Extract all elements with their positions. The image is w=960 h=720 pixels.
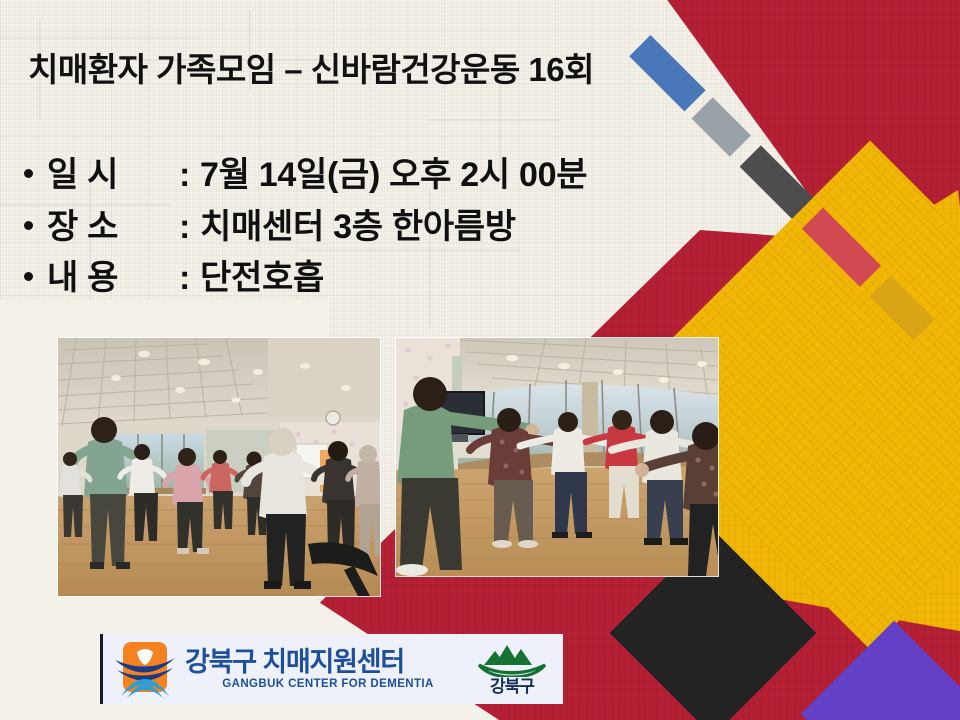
detail-separator-place: : — [179, 202, 190, 254]
logo-korean-name: 강북구 치매지원센터 — [185, 648, 471, 676]
detail-row-place: 장 소 : 치매센터 3층 한아름방 — [24, 202, 587, 254]
detail-label-content: 내 용 — [47, 253, 179, 305]
logo-text-block: 강북구 치매지원센터 GANGBUK CENTER FOR DEMENTIA — [185, 648, 471, 691]
detail-list: 일 시 : 7월 14일(금) 오후 2시 00분 장 소 : 치매센터 3층 … — [24, 150, 587, 305]
gangbuk-mountain-icon — [477, 643, 547, 677]
gangbuk-district-emblem: 강북구 — [471, 643, 553, 695]
detail-label-place: 장 소 — [47, 202, 179, 254]
detail-value-content: 단전호흡 — [200, 253, 324, 305]
slide-title: 치매환자 가족모임 – 신바람건강운동 16회 — [28, 52, 594, 89]
detail-value-place: 치매센터 3층 한아름방 — [200, 202, 516, 254]
detail-label-date: 일 시 — [47, 150, 179, 202]
detail-row-content: 내 용 : 단전호흡 — [24, 253, 587, 305]
bullet-dot-icon — [24, 272, 33, 281]
photo-group-exercise-right — [396, 338, 718, 576]
logo-english-name: GANGBUK CENTER FOR DEMENTIA — [185, 678, 471, 691]
detail-separator-date: : — [179, 150, 190, 202]
slide-canvas: 치매환자 가족모임 – 신바람건강운동 16회 일 시 : 7월 14일(금) … — [0, 0, 960, 720]
gangbuk-emblem-label: 강북구 — [490, 678, 534, 695]
detail-value-date: 7월 14일(금) 오후 2시 00분 — [200, 150, 587, 202]
dementia-center-logo-icon — [115, 640, 175, 698]
detail-row-date: 일 시 : 7월 14일(금) 오후 2시 00분 — [24, 150, 587, 202]
bullet-dot-icon — [24, 169, 33, 178]
bullet-dot-icon — [24, 221, 33, 230]
organization-logo-bar: 강북구 치매지원센터 GANGBUK CENTER FOR DEMENTIA 강… — [100, 634, 563, 704]
detail-separator-content: : — [179, 253, 190, 305]
photo-group-exercise-left — [58, 338, 380, 596]
